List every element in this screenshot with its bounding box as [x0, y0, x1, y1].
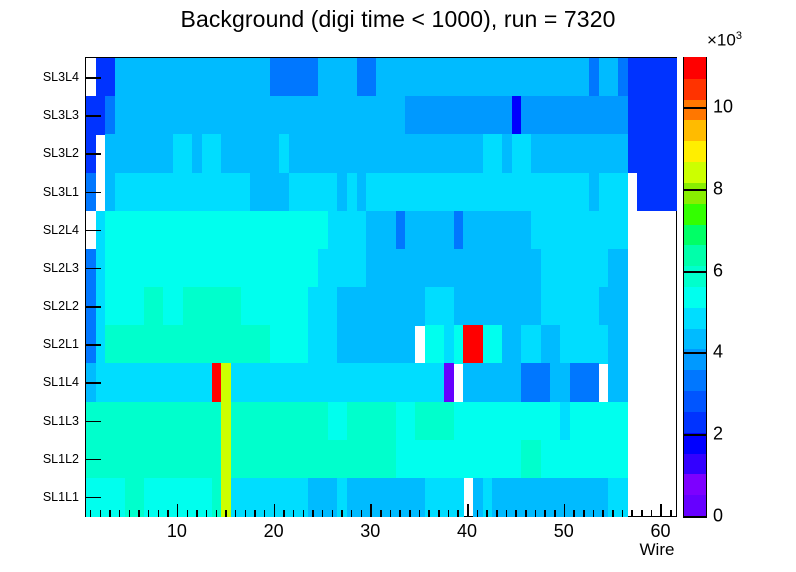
x-axis-tick	[138, 510, 140, 517]
heatmap-cell[interactable]	[618, 440, 628, 479]
color-scale-tick-label: 4	[713, 342, 723, 363]
x-axis-tick	[370, 504, 372, 517]
y-axis-tick-label: SL3L1	[43, 185, 79, 199]
heatmap-cell[interactable]	[444, 363, 454, 402]
x-axis-tick	[448, 510, 450, 517]
heatmap-cell[interactable]	[618, 402, 628, 441]
y-axis-tick-label: SL2L2	[43, 299, 79, 313]
y-axis-tick	[85, 459, 101, 461]
heatmap-cell[interactable]	[405, 325, 415, 364]
x-axis-tick	[216, 510, 218, 517]
color-scale-tick	[683, 352, 707, 354]
y-axis-tick-label: SL2L1	[43, 337, 79, 351]
y-axis-tick	[85, 77, 101, 79]
y-axis-tick	[85, 421, 101, 423]
x-axis-tick	[477, 510, 479, 517]
color-scale-tick	[683, 434, 707, 436]
y-axis-tick	[85, 497, 101, 499]
x-axis-tick	[119, 510, 121, 517]
y-axis-tick	[85, 153, 101, 155]
heatmap-cells[interactable]	[86, 58, 676, 516]
heatmap-cell[interactable]	[618, 325, 628, 364]
x-axis-tick	[438, 510, 440, 517]
y-axis-tick-label: SL1L2	[43, 452, 79, 466]
x-axis-tick	[312, 510, 314, 517]
x-axis-tick	[225, 510, 227, 517]
x-axis-tick	[380, 510, 382, 517]
heatmap-plot-frame[interactable]	[85, 57, 677, 517]
x-axis-tick	[593, 510, 595, 517]
x-axis-tick	[535, 510, 537, 517]
y-axis-tick-label: SL3L3	[43, 108, 79, 122]
heatmap-cell[interactable]	[618, 249, 628, 288]
x-axis-tick-label: 60	[650, 521, 670, 542]
color-scale-tick	[683, 107, 707, 109]
color-scale-tick-label: 8	[713, 178, 723, 199]
x-axis-tick	[583, 510, 585, 517]
x-axis-tick	[486, 510, 488, 517]
y-axis-tick-label: SL1L3	[43, 414, 79, 428]
page-title: Background (digi time < 1000), run = 732…	[0, 6, 796, 33]
x-axis-tick	[196, 510, 198, 517]
y-axis-tick-label: SL1L1	[43, 490, 79, 504]
x-axis-tick	[390, 510, 392, 517]
heatmap-cell[interactable]	[618, 363, 628, 402]
x-axis-tick	[670, 510, 672, 517]
x-axis-tick	[341, 510, 343, 517]
x-axis-tick	[554, 510, 556, 517]
color-scale-exponent: ×103	[707, 30, 742, 51]
x-axis-tick	[506, 510, 508, 517]
x-axis-tick-label: 10	[167, 521, 187, 542]
x-axis-tick	[602, 510, 604, 517]
color-scale-tick-label: 0	[713, 506, 723, 527]
x-axis-tick	[428, 510, 430, 517]
x-axis-tick	[158, 510, 160, 517]
x-axis-labels: 102030405060	[85, 521, 677, 547]
y-axis-tick-label: SL2L4	[43, 223, 79, 237]
y-axis-tick	[85, 306, 101, 308]
y-axis-tick	[85, 230, 101, 232]
x-axis-tick	[177, 504, 179, 517]
x-axis-tick	[496, 510, 498, 517]
y-axis-tick-label: SL3L2	[43, 146, 79, 160]
color-scale-tick	[683, 516, 707, 518]
x-axis-tick	[206, 510, 208, 517]
color-scale-tick	[683, 189, 707, 191]
y-axis-tick	[85, 192, 101, 194]
x-axis-tick	[109, 510, 111, 517]
x-axis-tick	[515, 510, 517, 517]
heatmap-cell[interactable]	[618, 287, 628, 326]
x-axis-tick	[612, 510, 614, 517]
x-axis-tick	[245, 510, 247, 517]
x-axis-tick	[254, 510, 256, 517]
x-axis-tick-label: 40	[457, 521, 477, 542]
heatmap-cell[interactable]	[666, 96, 676, 135]
x-axis-tick	[274, 504, 276, 517]
x-axis-tick	[361, 510, 363, 517]
y-axis-tick-label: SL3L4	[43, 70, 79, 84]
y-axis-tick	[85, 382, 101, 384]
y-axis-tick-label: SL1L4	[43, 375, 79, 389]
x-axis-tick	[457, 510, 459, 517]
heatmap-cell[interactable]	[618, 211, 628, 250]
x-axis-tick	[332, 510, 334, 517]
x-axis-tick	[641, 510, 643, 517]
heatmap-cell[interactable]	[618, 173, 628, 212]
x-axis-tick	[264, 510, 266, 517]
x-axis-tick	[399, 510, 401, 517]
x-axis-tick	[419, 510, 421, 517]
y-axis-tick	[85, 268, 101, 270]
x-axis-tick	[651, 510, 653, 517]
x-axis-tick-label: 20	[264, 521, 284, 542]
heatmap-cell[interactable]	[666, 134, 676, 173]
x-axis-tick	[167, 510, 169, 517]
y-axis-tick	[85, 344, 101, 346]
x-axis-tick	[187, 510, 189, 517]
x-axis-tick	[544, 510, 546, 517]
y-axis-tick-label: SL2L3	[43, 261, 79, 275]
x-axis-tick	[303, 510, 305, 517]
x-axis-tick	[660, 504, 662, 517]
x-axis-tick	[467, 504, 469, 517]
root-canvas: Background (digi time < 1000), run = 732…	[0, 0, 796, 572]
x-axis-tick	[631, 510, 633, 517]
color-scale-tick-label: 10	[713, 97, 733, 118]
color-scale-axis: 0246810	[683, 57, 753, 517]
x-axis-tick-label: 50	[554, 521, 574, 542]
exponent-base: ×10	[707, 31, 736, 50]
x-axis-tick	[100, 510, 102, 517]
x-axis-tick	[322, 510, 324, 517]
x-axis-tick	[129, 510, 131, 517]
x-axis-tick	[573, 510, 575, 517]
x-axis-tick	[351, 510, 353, 517]
x-axis-tick	[148, 510, 150, 517]
color-scale-tick-label: 2	[713, 424, 723, 445]
y-axis-tick	[85, 115, 101, 117]
x-axis-tick	[293, 510, 295, 517]
x-axis-tick	[90, 510, 92, 517]
x-axis-tick-label: 30	[360, 521, 380, 542]
x-axis-tick	[525, 510, 527, 517]
heatmap-cell[interactable]	[589, 363, 599, 402]
x-axis-tick	[283, 510, 285, 517]
color-scale-tick	[683, 271, 707, 273]
x-axis-tick	[409, 510, 411, 517]
exponent-power: 3	[736, 30, 742, 42]
color-scale-tick-label: 6	[713, 260, 723, 281]
heatmap-cell[interactable]	[666, 173, 676, 212]
x-axis-tick	[235, 510, 237, 517]
x-axis-tick	[622, 510, 624, 517]
x-axis-title: Wire	[622, 540, 692, 560]
x-axis-tick	[564, 504, 566, 517]
heatmap-cell[interactable]	[666, 58, 676, 97]
y-axis-labels: SL3L4SL3L3SL3L2SL3L1SL2L4SL2L3SL2L2SL2L1…	[0, 57, 79, 517]
